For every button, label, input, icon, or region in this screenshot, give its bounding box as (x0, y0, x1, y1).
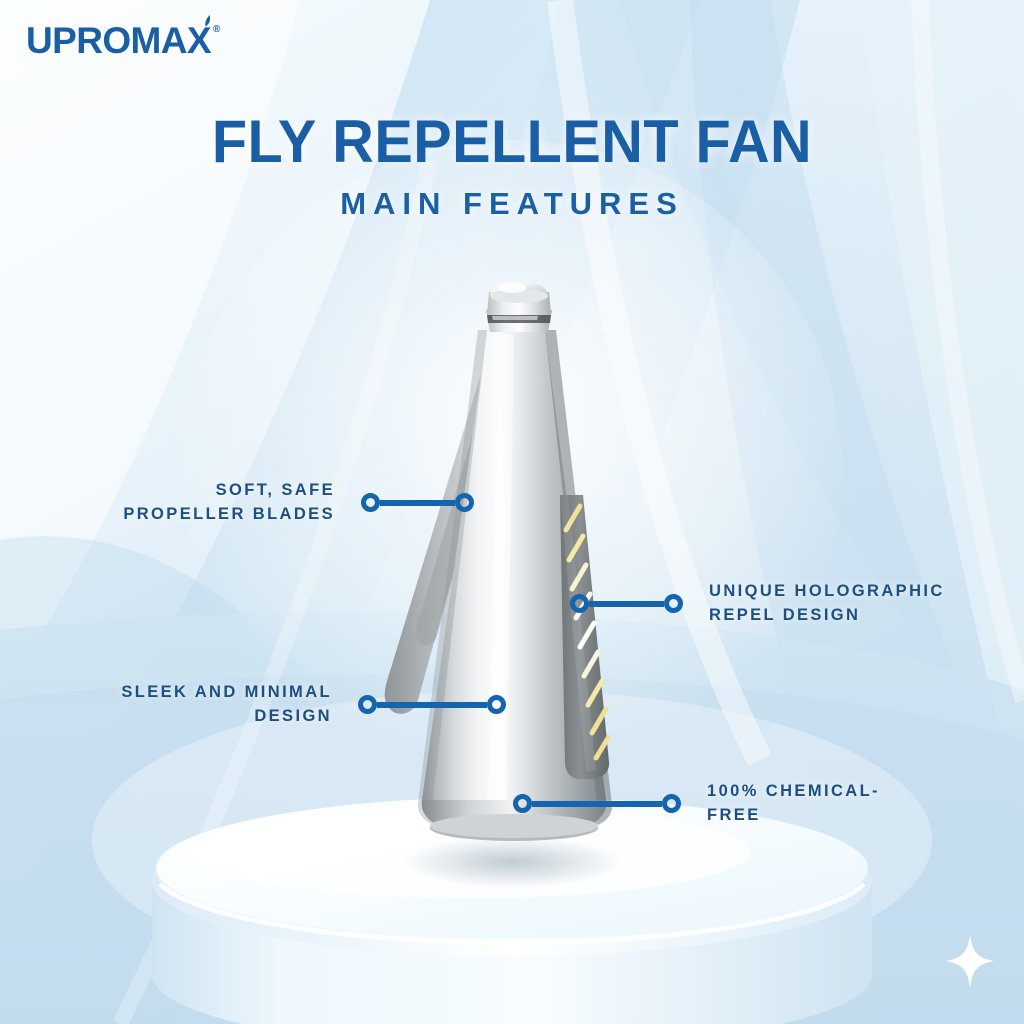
heading-block: FLY REPELLENT FAN MAIN FEATURES (0, 112, 1024, 222)
connector-bar (589, 601, 664, 607)
connector-ring-text-end (662, 794, 681, 813)
callout-connector-100-percent-chemical-free (513, 794, 681, 813)
trademark-symbol: ® (213, 24, 220, 35)
callout-label-unique-holographic-repel-design: UNIQUE HOLOGRAPHIC REPEL DESIGN (709, 580, 945, 628)
callout-label-100-percent-chemical-free: 100% CHEMICAL- FREE (707, 780, 880, 828)
product-feature-infographic: UPROMAX ® FLY REPELLENT FAN MAIN FEATURE… (0, 0, 1024, 1024)
callout-connector-sleek-and-minimal-design (358, 695, 506, 714)
callout-100-percent-chemical-free[interactable]: 100% CHEMICAL- FREE (513, 780, 933, 828)
connector-ring-text-end (664, 594, 683, 613)
connector-ring-product-end (455, 493, 474, 512)
page-subtitle: MAIN FEATURES (0, 186, 1024, 222)
connector-ring-text-end (358, 695, 377, 714)
connector-ring-text-end (361, 493, 380, 512)
brand-name-main: UPROMA (26, 20, 187, 61)
connector-ring-product-end (513, 794, 532, 813)
brand-logo[interactable]: UPROMAX ® (26, 22, 220, 59)
four-point-star-icon (946, 934, 994, 988)
callout-sleek-and-minimal-design[interactable]: SLEEK AND MINIMAL DESIGN (66, 681, 506, 729)
leaf-spark-icon (202, 15, 214, 30)
dome-cap-group (486, 281, 552, 332)
callout-label-soft-safe-propeller-blades: SOFT, SAFE PROPELLER BLADES (123, 479, 335, 527)
connector-bar (532, 801, 662, 807)
connector-bar (380, 500, 455, 506)
holographic-strip-group (560, 495, 609, 779)
brand-logo-text: UPROMAX (26, 22, 211, 59)
brand-name-x-wrap: X (187, 22, 211, 59)
connector-ring-product-end (487, 695, 506, 714)
callout-connector-soft-safe-propeller-blades (361, 493, 474, 512)
callout-unique-holographic-repel-design[interactable]: UNIQUE HOLOGRAPHIC REPEL DESIGN (570, 580, 990, 628)
callout-label-sleek-and-minimal-design: SLEEK AND MINIMAL DESIGN (121, 681, 332, 729)
connector-bar (377, 702, 487, 708)
connector-ring-product-end (570, 594, 589, 613)
callout-connector-unique-holographic-repel-design (570, 594, 683, 613)
callout-soft-safe-propeller-blades[interactable]: SOFT, SAFE PROPELLER BLADES (84, 479, 474, 527)
page-title: FLY REPELLENT FAN (20, 112, 1003, 172)
